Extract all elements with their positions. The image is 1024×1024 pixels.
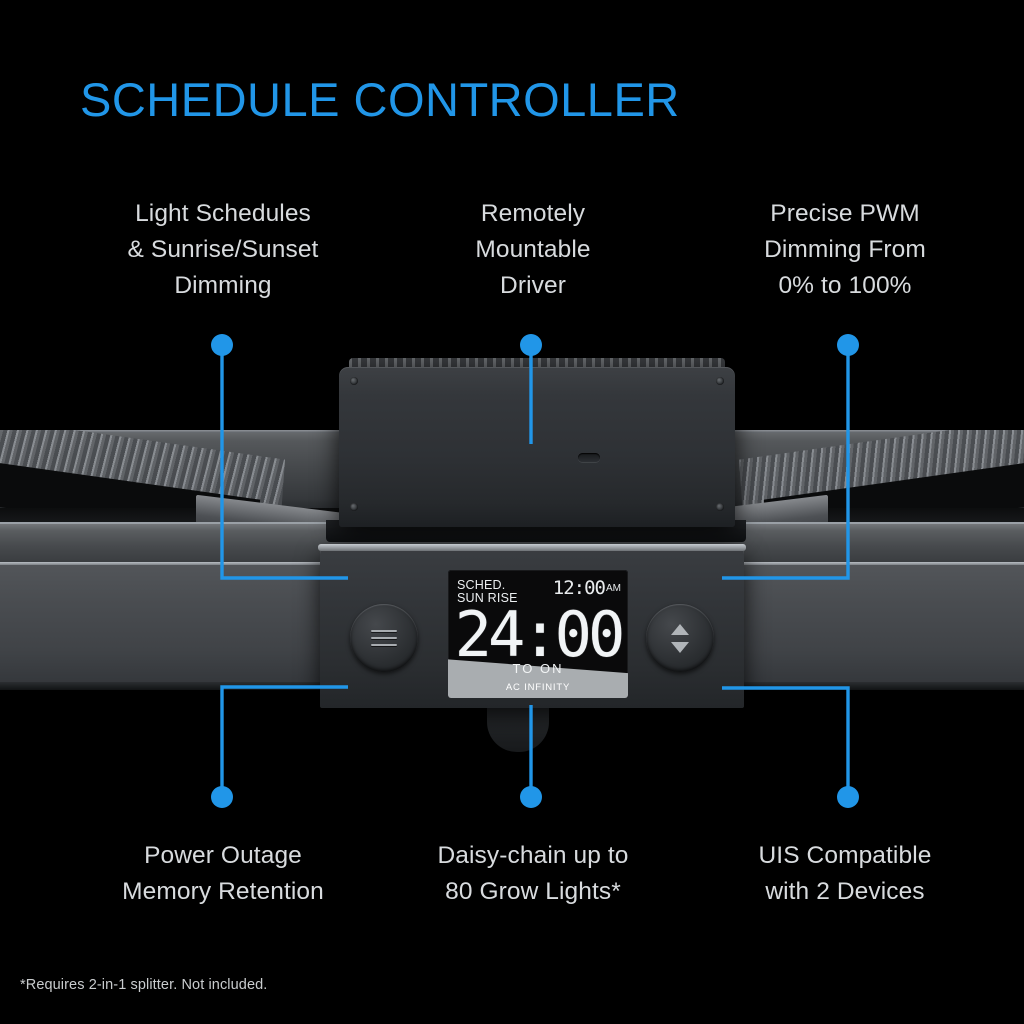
leader-dot-bottom-left bbox=[211, 786, 233, 808]
driver-vent-slot bbox=[578, 453, 600, 462]
callout-remote-driver: Remotely Mountable Driver bbox=[382, 196, 684, 304]
callout-pwm-dimming: Precise PWM Dimming From 0% to 100% bbox=[694, 196, 996, 304]
leader-dot-top-center bbox=[520, 334, 542, 356]
lcd-clock: 12:00AM bbox=[553, 579, 621, 598]
menu-button[interactable] bbox=[350, 604, 418, 672]
leader-dot-top-left bbox=[211, 334, 233, 356]
controller-top-lip bbox=[318, 544, 746, 551]
driver-module bbox=[339, 367, 735, 527]
triangle-down-icon[interactable] bbox=[671, 642, 689, 653]
lcd-display: SCHED. SUN RISE 12:00AM 24:00 TO ON AC I… bbox=[448, 570, 628, 698]
footnote: *Requires 2-in-1 splitter. Not included. bbox=[20, 977, 267, 993]
callout-daisy-chain: Daisy-chain up to 80 Grow Lights* bbox=[382, 838, 684, 910]
lcd-state-label: TO ON bbox=[448, 661, 628, 676]
driver-screw bbox=[350, 503, 358, 511]
schedule-controller-panel: SCHED. SUN RISE 12:00AM 24:00 TO ON AC I… bbox=[320, 548, 744, 708]
page-title: SCHEDULE CONTROLLER bbox=[80, 72, 680, 127]
callout-light-schedules: Light Schedules & Sunrise/Sunset Dimming bbox=[72, 196, 374, 304]
controller-cable-stub bbox=[487, 706, 549, 752]
lcd-clock-time: 12:00 bbox=[553, 577, 605, 599]
callout-power-outage: Power Outage Memory Retention bbox=[72, 838, 374, 910]
leader-dot-bottom-right bbox=[837, 786, 859, 808]
driver-screw bbox=[350, 377, 358, 385]
infographic-canvas: SCHEDULE CONTROLLER bbox=[0, 0, 1024, 1024]
driver-screw bbox=[716, 503, 724, 511]
updown-button[interactable] bbox=[646, 604, 714, 672]
driver-screw bbox=[716, 377, 724, 385]
hamburger-icon bbox=[371, 630, 397, 646]
lcd-brand: AC INFINITY bbox=[448, 682, 628, 693]
leader-dot-top-right bbox=[837, 334, 859, 356]
lcd-clock-meridiem: AM bbox=[606, 583, 621, 594]
leader-dot-bottom-center bbox=[520, 786, 542, 808]
callout-uis-compatible: UIS Compatible with 2 Devices bbox=[694, 838, 996, 910]
lcd-countdown: 24:00 bbox=[452, 604, 624, 666]
triangle-up-icon[interactable] bbox=[671, 624, 689, 635]
